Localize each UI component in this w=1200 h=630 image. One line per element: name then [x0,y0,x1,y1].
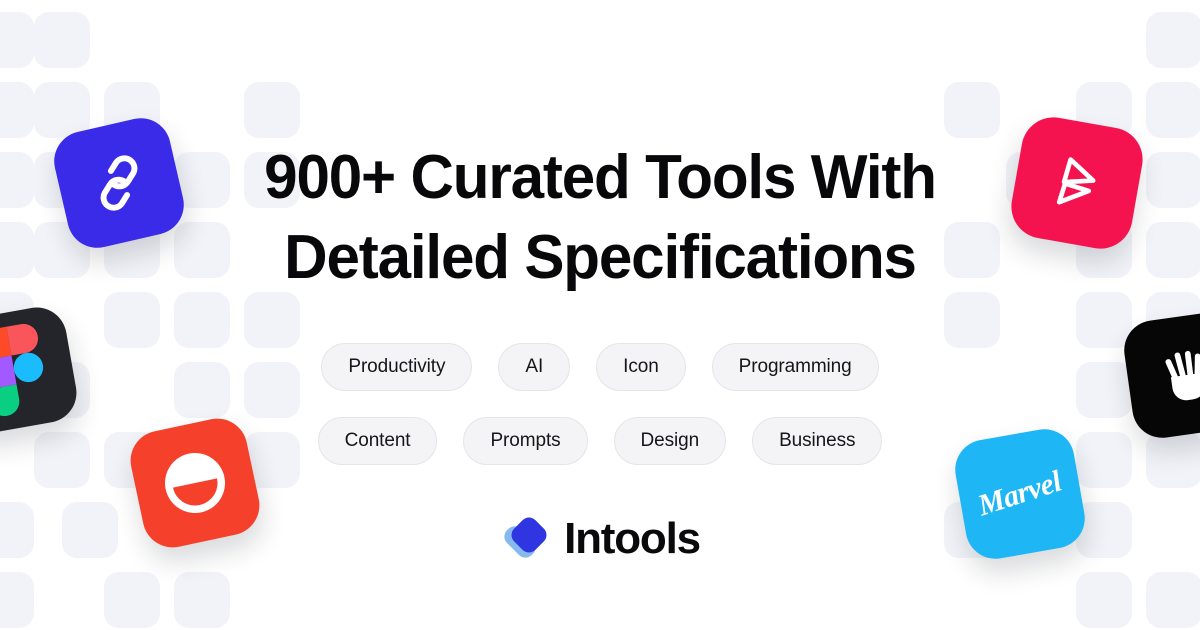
category-tag-row-2: ContentPromptsDesignBusiness [318,417,883,465]
b-triangles-icon [1041,147,1113,219]
og-banner: Marvel 900+ Curated Tools With Detailed … [0,0,1200,630]
headline-line-1: 900+ Curated Tools With [212,138,988,218]
tag-design[interactable]: Design [614,417,727,465]
category-tag-row-1: ProductivityAIIconProgramming [321,343,878,391]
marvel-app-icon: Marvel [950,424,1089,563]
tag-programming[interactable]: Programming [712,343,879,391]
tag-content[interactable]: Content [318,417,438,465]
tag-business[interactable]: Business [752,417,882,465]
tag-ai[interactable]: AI [498,343,570,391]
brand-lockup[interactable]: Intools [500,513,700,565]
category-tag-cloud: ProductivityAIIconProgramming ContentPro… [250,343,950,465]
tag-productivity[interactable]: Productivity [321,343,472,391]
marvel-wordmark: Marvel [974,465,1066,524]
page-title: 900+ Curated Tools With Detailed Specifi… [212,0,988,298]
brand-wordmark: Intools [564,517,700,561]
smile-face-icon [148,436,243,531]
chain-link-icon [82,146,156,220]
headline-line-2: Detailed Specifications [212,218,988,298]
intools-diamond-icon [500,513,552,565]
open-hand-icon [1153,341,1200,409]
figma-icon [0,321,51,418]
tag-prompts[interactable]: Prompts [463,417,587,465]
tag-icon[interactable]: Icon [596,343,686,391]
bonsai-app-icon [1006,112,1147,253]
